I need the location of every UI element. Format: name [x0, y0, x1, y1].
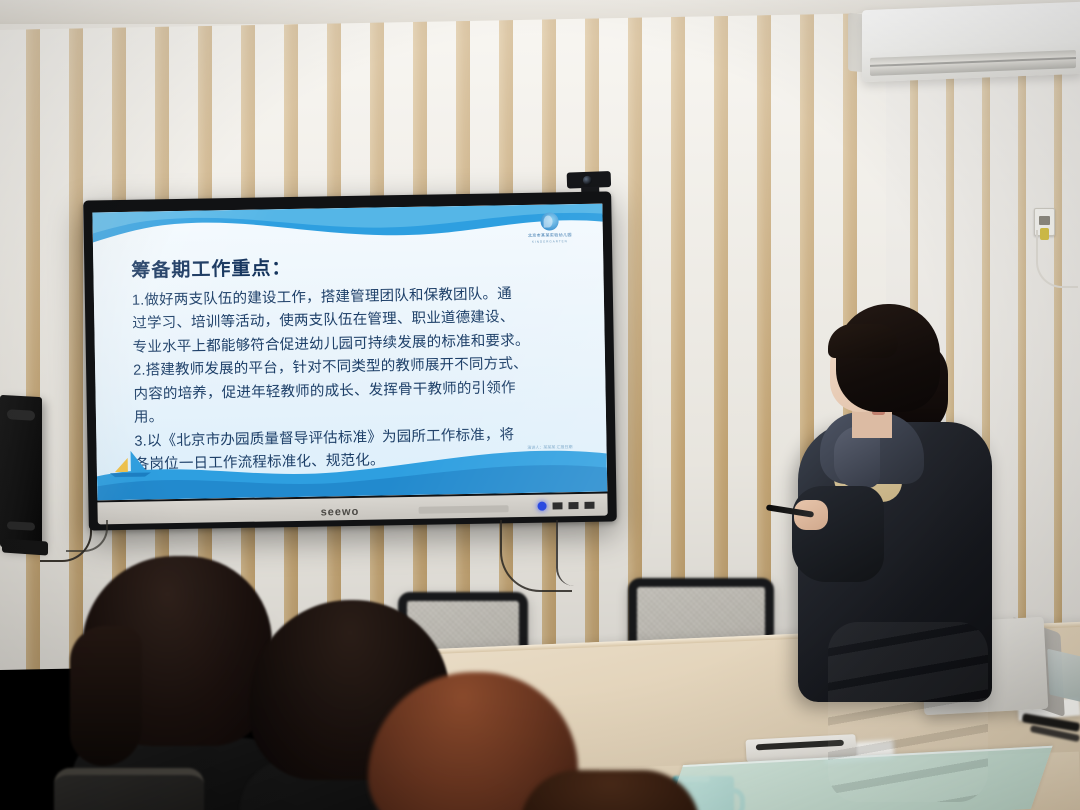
presenter-hair	[836, 304, 940, 412]
presenter-bangs	[828, 324, 898, 358]
jacket-quilting	[828, 622, 988, 802]
attendee-hair	[520, 770, 700, 810]
attendee-hair-strand	[70, 626, 142, 766]
air-conditioner-vent	[870, 50, 1076, 76]
attendee-foreground	[520, 770, 700, 810]
sailboat-graphic	[107, 449, 154, 480]
outlet-slot	[1039, 216, 1050, 225]
slide-logo: 北京市某某实验幼儿园 KINDERGARTEN	[512, 212, 587, 245]
wall-mounted-air-conditioner	[862, 2, 1080, 82]
display-power-led	[537, 502, 546, 511]
meeting-room-photo: 北京市某某实验幼儿园 KINDERGARTEN 筹备期工作重点： 1.做好两支队…	[0, 0, 1080, 810]
webcam-lens	[583, 176, 592, 185]
speaker-grill-bottom	[7, 521, 35, 530]
display-brand-label: seewo	[321, 506, 360, 519]
presenter-standing	[790, 300, 1000, 700]
interactive-flat-panel-display[interactable]: 北京市某某实验幼儿园 KINDERGARTEN 筹备期工作重点： 1.做好两支队…	[83, 191, 617, 530]
kindergarten-wave-logo-icon	[540, 212, 558, 230]
slide-title: 筹备期工作重点：	[131, 248, 583, 283]
slide-logo-name-en: KINDERGARTEN	[513, 239, 587, 244]
wall-mounted-speaker	[0, 395, 42, 549]
presentation-slide: 北京市某某实验幼儿园 KINDERGARTEN 筹备期工作重点： 1.做好两支队…	[92, 204, 607, 501]
speaker-grill-top	[7, 409, 35, 420]
display-cable-secondary	[556, 520, 584, 586]
conference-webcam	[567, 171, 612, 189]
outlet-cord	[1036, 230, 1078, 288]
attendee-chair[interactable]	[54, 768, 204, 810]
display-screen[interactable]: 北京市某某实验幼儿园 KINDERGARTEN 筹备期工作重点： 1.做好两支队…	[92, 204, 607, 501]
display-ports[interactable]	[553, 502, 599, 510]
slide-footer-wave	[96, 434, 607, 501]
